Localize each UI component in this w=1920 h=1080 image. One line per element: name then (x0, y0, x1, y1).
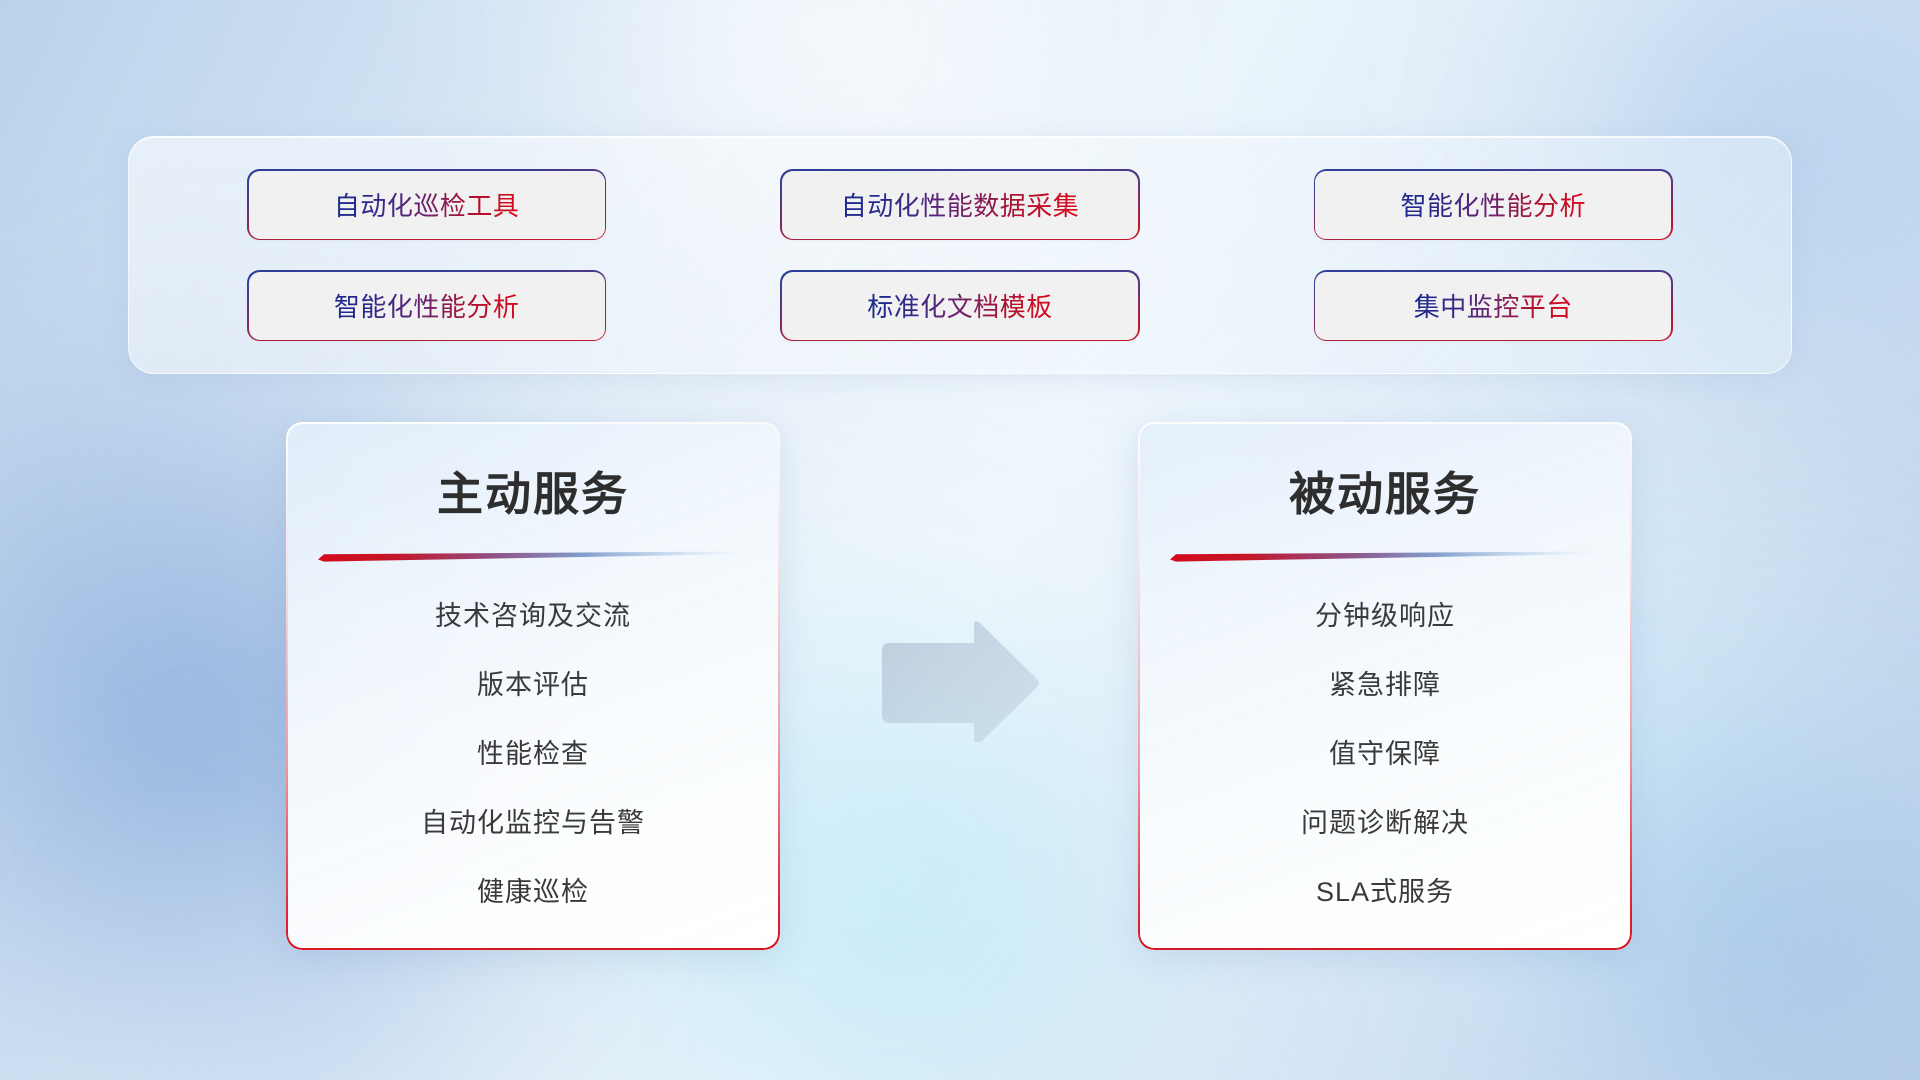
capability-pill-label: 智能化性能分析 (334, 287, 520, 324)
service-card-list: 分钟级响应 紧急排障 值守保障 问题诊断解决 SLA式服务 (1138, 594, 1632, 909)
service-card-list: 技术咨询及交流 版本评估 性能检查 自动化监控与告警 健康巡检 (286, 594, 780, 909)
service-list-item: 分钟级响应 (1315, 594, 1455, 633)
capability-pill-2[interactable]: 自动化性能数据采集 (782, 171, 1138, 239)
arrow-right-icon (876, 620, 1042, 742)
card-divider (1170, 550, 1600, 562)
service-list-item: 值守保障 (1329, 732, 1441, 771)
diagram-stage: 自动化巡检工具 自动化性能数据采集 智能化性能分析 智能化性能分析 标准化文档模… (0, 0, 1920, 1080)
service-list-item: SLA式服务 (1316, 870, 1454, 909)
capability-pill-label: 标准化文档模板 (867, 287, 1053, 324)
capability-pill-5[interactable]: 标准化文档模板 (782, 272, 1138, 340)
capability-pill-label: 自动化性能数据采集 (841, 186, 1080, 223)
service-card-proactive[interactable]: 主动服务 技术咨询及交流 版本评估 性能检查 (286, 422, 780, 950)
service-list-item: 紧急排障 (1329, 663, 1441, 702)
service-list-item: 自动化监控与告警 (421, 801, 645, 840)
capability-pill-1[interactable]: 自动化巡检工具 (249, 171, 605, 239)
capability-pill-4[interactable]: 智能化性能分析 (249, 272, 605, 340)
service-card-title: 主动服务 (286, 458, 780, 524)
capability-pill-label: 集中监控平台 (1414, 287, 1573, 324)
capability-panel: 自动化巡检工具 自动化性能数据采集 智能化性能分析 智能化性能分析 标准化文档模… (128, 136, 1792, 374)
capability-pill-3[interactable]: 智能化性能分析 (1315, 171, 1671, 239)
service-list-item: 版本评估 (477, 663, 589, 702)
service-card-reactive[interactable]: 被动服务 分钟级响应 紧急排障 值守保障 (1138, 422, 1632, 950)
service-list-item: 性能检查 (477, 732, 589, 771)
capability-pill-label: 自动化巡检工具 (334, 186, 520, 223)
capability-pill-6[interactable]: 集中监控平台 (1315, 272, 1671, 340)
card-divider (318, 550, 748, 562)
service-list-item: 健康巡检 (477, 870, 589, 909)
service-list-item: 技术咨询及交流 (435, 594, 631, 633)
capability-pill-label: 智能化性能分析 (1401, 186, 1587, 223)
service-card-title: 被动服务 (1138, 458, 1632, 524)
service-list-item: 问题诊断解决 (1301, 801, 1469, 840)
